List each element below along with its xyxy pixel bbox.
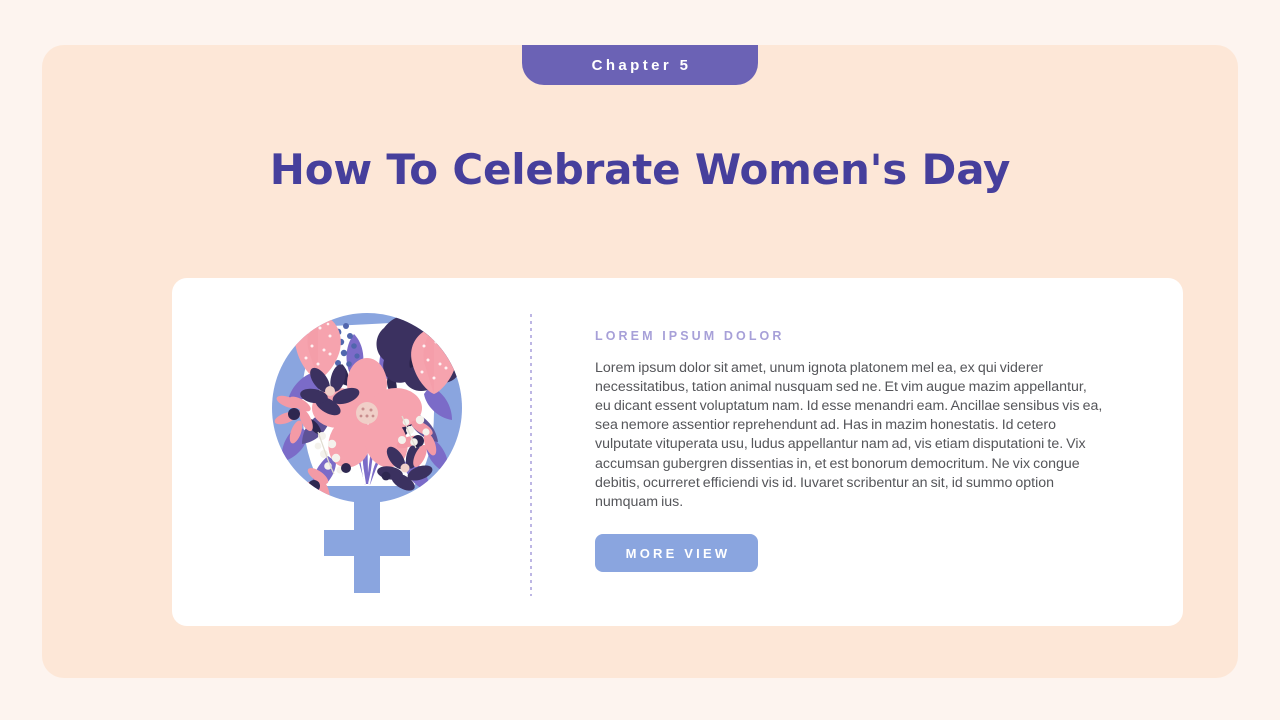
vertical-dotted-divider xyxy=(530,314,532,596)
more-view-label: MORE VIEW xyxy=(623,547,731,560)
chapter-badge: Chapter 5 xyxy=(522,45,758,85)
page-title: How To Celebrate Women's Day xyxy=(0,146,1280,194)
chapter-badge-label: Chapter 5 xyxy=(589,58,692,73)
more-view-button[interactable]: MORE VIEW xyxy=(595,534,758,572)
body-paragraph: Lorem ipsum dolor sit amet, unum ignota … xyxy=(595,359,1105,513)
text-column: LOREM IPSUM DOLOR Lorem ipsum dolor sit … xyxy=(595,330,1105,572)
venus-symbol-floral-bouquet-illustration xyxy=(262,308,472,598)
bouquet-group xyxy=(273,314,468,515)
white-content-panel: LOREM IPSUM DOLOR Lorem ipsum dolor sit … xyxy=(172,278,1183,626)
slide-canvas: LOREM IPSUM DOLOR Lorem ipsum dolor sit … xyxy=(0,0,1280,720)
section-eyebrow: LOREM IPSUM DOLOR xyxy=(595,330,1105,343)
content-card: LOREM IPSUM DOLOR Lorem ipsum dolor sit … xyxy=(42,45,1238,678)
